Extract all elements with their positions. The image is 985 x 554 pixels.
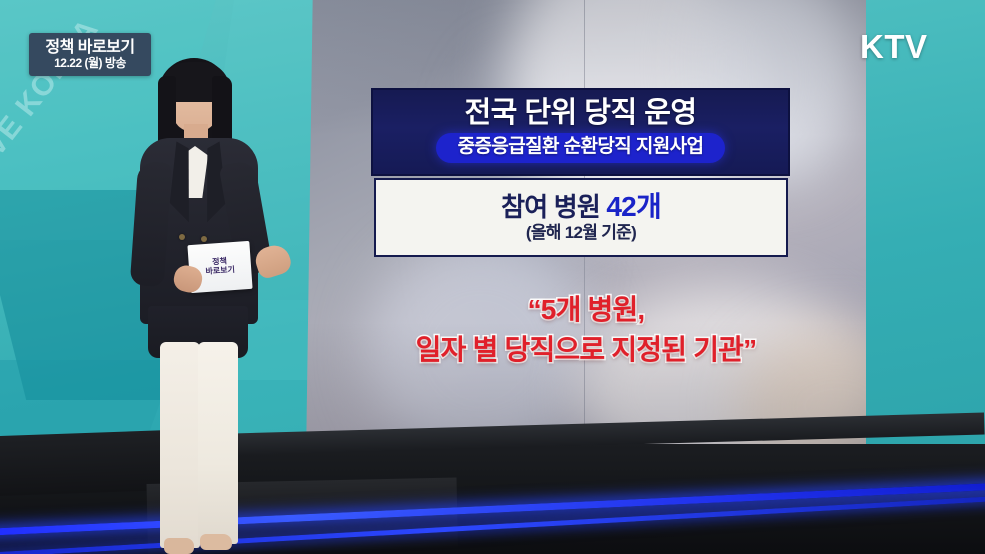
presenter-jacket-button-1 [179,234,185,240]
graphic-title-pill: 중증응급질환 순환당직 지원사업 [436,133,726,163]
graphic-stat-label: 참여 병원 [501,192,606,222]
ktv-channel-logo: KTV [860,28,928,66]
graphic-title-block: 전국 단위 당직 운영 중증응급질환 순환당직 지원사업 [371,88,790,176]
presenter-trouser-right [198,342,238,544]
cue-card-line-2: 바로보기 [205,266,235,277]
broadcast-screen: LIVE KOREA LIVE KOREA LIVE KOREA [0,0,985,554]
presenter-shoe-left [164,538,194,554]
presenter-trouser-left [160,342,200,548]
program-badge-airdate: 12.22 (월) 방송 [54,57,126,69]
graphic-stat-value: 42개 [606,191,661,222]
graphic-title-pill-text: 중증응급질환 순환당직 지원사업 [458,135,704,159]
graphic-info-panel: 참여 병원 42개 (올해 12월 기준) [374,178,788,257]
program-badge: 정책 바로보기 12.22 (월) 방송 [29,33,151,76]
graphic-stat-line: 참여 병원 42개 [501,192,661,223]
program-badge-title: 정책 바로보기 [45,40,134,56]
presenter: 정책 바로보기 [120,58,310,554]
presenter-jacket-button-2 [201,236,207,242]
presenter-shoe-right [200,534,232,550]
graphic-stat-note: (올해 12월 기준) [526,224,636,243]
presenter-hair-left [158,76,176,144]
graphic-title-main: 전국 단위 당직 운영 [464,96,696,130]
